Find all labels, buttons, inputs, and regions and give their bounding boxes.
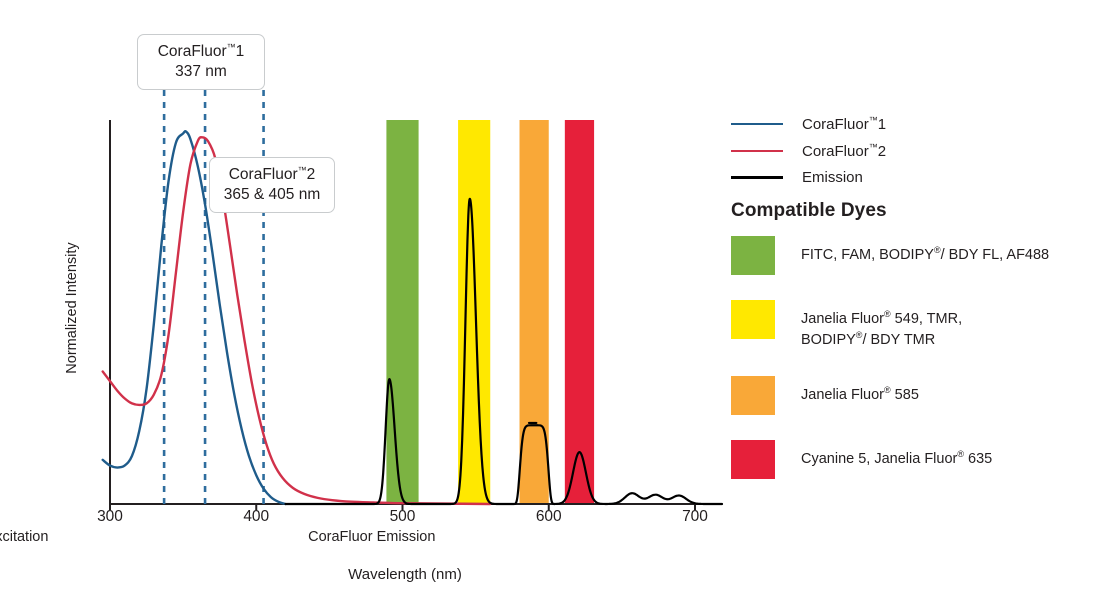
green-band (386, 120, 418, 504)
xtick-500: 500 (373, 508, 433, 526)
legend-line-swatch (731, 150, 783, 152)
legend-item-label: CoraFluor™2 (802, 142, 886, 160)
legend-item-label: Emission (802, 169, 863, 186)
legend-item-3: Emission (731, 164, 1081, 191)
dye-label: Janelia Fluor® 549, TMR,BODIPY®/ BDY TMR (801, 300, 962, 351)
orange-band (520, 120, 549, 504)
dye-label: FITC, FAM, BODIPY®/ BDY FL, AF488 (801, 236, 1049, 265)
dye-label-line: Janelia Fluor® 549, TMR, (801, 308, 962, 329)
xtick-300: 300 (80, 508, 140, 526)
axis-section-excitation: CoraFluor Excitation (0, 529, 93, 545)
dye-color-swatch (731, 440, 775, 479)
legend-item-2: CoraFluor™2 (731, 137, 1081, 164)
legend-item-1: CoraFluor™1 (731, 110, 1081, 137)
compatible-dyes-title: Compatible Dyes (731, 200, 887, 222)
dye-label-line: Cyanine 5, Janelia Fluor® 635 (801, 448, 992, 469)
callout-corafluor1: CoraFluor™1 337 nm (137, 34, 265, 90)
series-legend: CoraFluor™1CoraFluor™2Emission (731, 110, 1081, 191)
dye-label: Cyanine 5, Janelia Fluor® 635 (801, 440, 992, 469)
dye-label-line: FITC, FAM, BODIPY®/ BDY FL, AF488 (801, 244, 1049, 265)
dye-row-4: Cyanine 5, Janelia Fluor® 635 (731, 440, 1091, 479)
legend-line-swatch (731, 176, 783, 179)
legend-item-label: CoraFluor™1 (802, 115, 886, 133)
dye-label-line: BODIPY®/ BDY TMR (801, 329, 962, 350)
callout-2-line2: 365 & 405 nm (220, 185, 324, 204)
callout-corafluor2: CoraFluor™2 365 & 405 nm (209, 157, 335, 213)
dye-color-swatch (731, 376, 775, 415)
callout-1-line2: 337 nm (148, 62, 254, 81)
xtick-400: 400 (226, 508, 286, 526)
axis-section-emission: CoraFluor Emission (262, 529, 482, 545)
xtick-700: 700 (665, 508, 725, 526)
dye-row-3: Janelia Fluor® 585 (731, 376, 1091, 415)
dye-color-swatch (731, 300, 775, 339)
dye-color-swatch (731, 236, 775, 275)
x-axis-title: Wavelength (nm) (0, 566, 810, 583)
y-axis-title: Normalized Intensity (64, 208, 80, 408)
dye-row-2: Janelia Fluor® 549, TMR,BODIPY®/ BDY TMR (731, 300, 1091, 351)
fluorescence-spectra-figure: CoraFluor™1 337 nm CoraFluor™2 365 & 405… (0, 0, 1110, 612)
callout-1-line1: CoraFluor™1 (148, 42, 254, 62)
callout-2-line1: CoraFluor™2 (220, 165, 324, 185)
dye-row-1: FITC, FAM, BODIPY®/ BDY FL, AF488 (731, 236, 1091, 275)
compatible-dyes-list: FITC, FAM, BODIPY®/ BDY FL, AF488Janelia… (731, 236, 1091, 504)
curve-emission (286, 199, 723, 504)
xtick-600: 600 (519, 508, 579, 526)
legend-line-swatch (731, 123, 783, 125)
dye-label: Janelia Fluor® 585 (801, 376, 919, 405)
dye-label-line: Janelia Fluor® 585 (801, 384, 919, 405)
red-band (565, 120, 594, 504)
